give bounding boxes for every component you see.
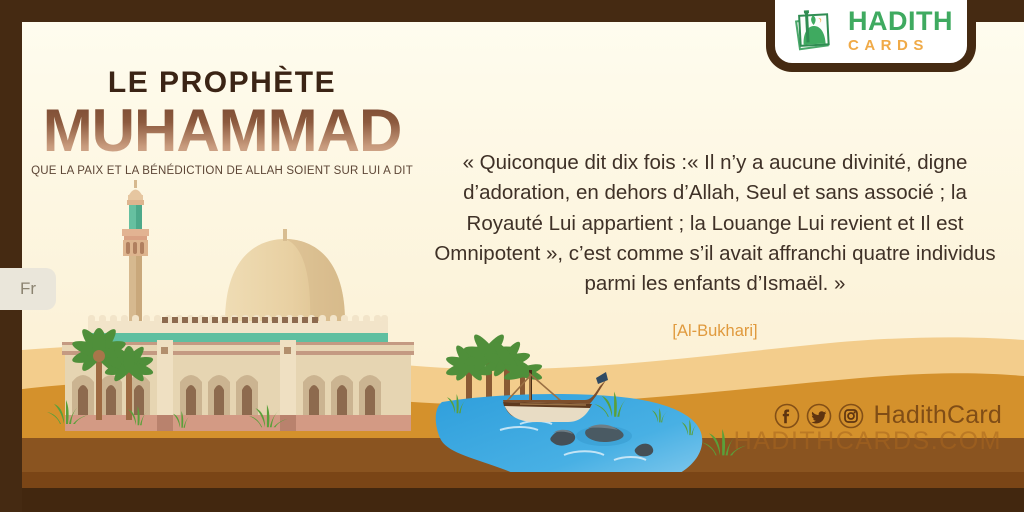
title-subtitle: QUE LA PAIX ET LA BÉNÉDICTION DE ALLAH S…	[22, 165, 422, 177]
hadith-attribution: [Al-Bukhari]	[425, 322, 1005, 341]
logo-cards-text: CARDS	[848, 38, 953, 53]
instagram-icon[interactable]	[838, 403, 864, 429]
hadithcards-logo[interactable]: HADITH CARDS	[766, 0, 976, 72]
mosque-arches	[72, 375, 381, 420]
title-block: LE PROPHÈTE MUHAMMAD QUE LA PAIX ET LA B…	[22, 68, 422, 177]
logo-hadith-text: HADITH	[848, 8, 953, 35]
frame-left-border	[0, 0, 22, 512]
brand-block: HadithCard HADITHCARDS.COM	[734, 401, 1002, 456]
frame-bottom-border	[0, 488, 1024, 512]
hadith-quote-block: « Quiconque dit dix fois :« Il n’y a auc…	[425, 148, 1005, 341]
hadith-card: HADITH CARDS LE PROPHÈTE MUHAMMAD QUE LA…	[0, 0, 1024, 512]
language-badge[interactable]: Fr	[0, 268, 56, 310]
facebook-icon[interactable]	[774, 403, 800, 429]
brand-social-row: HadithCard	[774, 401, 1002, 430]
brand-handle: HadithCard	[874, 401, 1002, 430]
title-prefix: LE PROPHÈTE	[22, 68, 422, 98]
mosque-photo-card-icon	[789, 6, 841, 56]
hadith-quote-text: « Quiconque dit dix fois :« Il n’y a auc…	[425, 148, 1005, 300]
title-name: MUHAMMAD	[22, 101, 422, 161]
twitter-icon[interactable]	[806, 403, 832, 429]
brand-website: HADITHCARDS.COM	[734, 427, 1002, 456]
